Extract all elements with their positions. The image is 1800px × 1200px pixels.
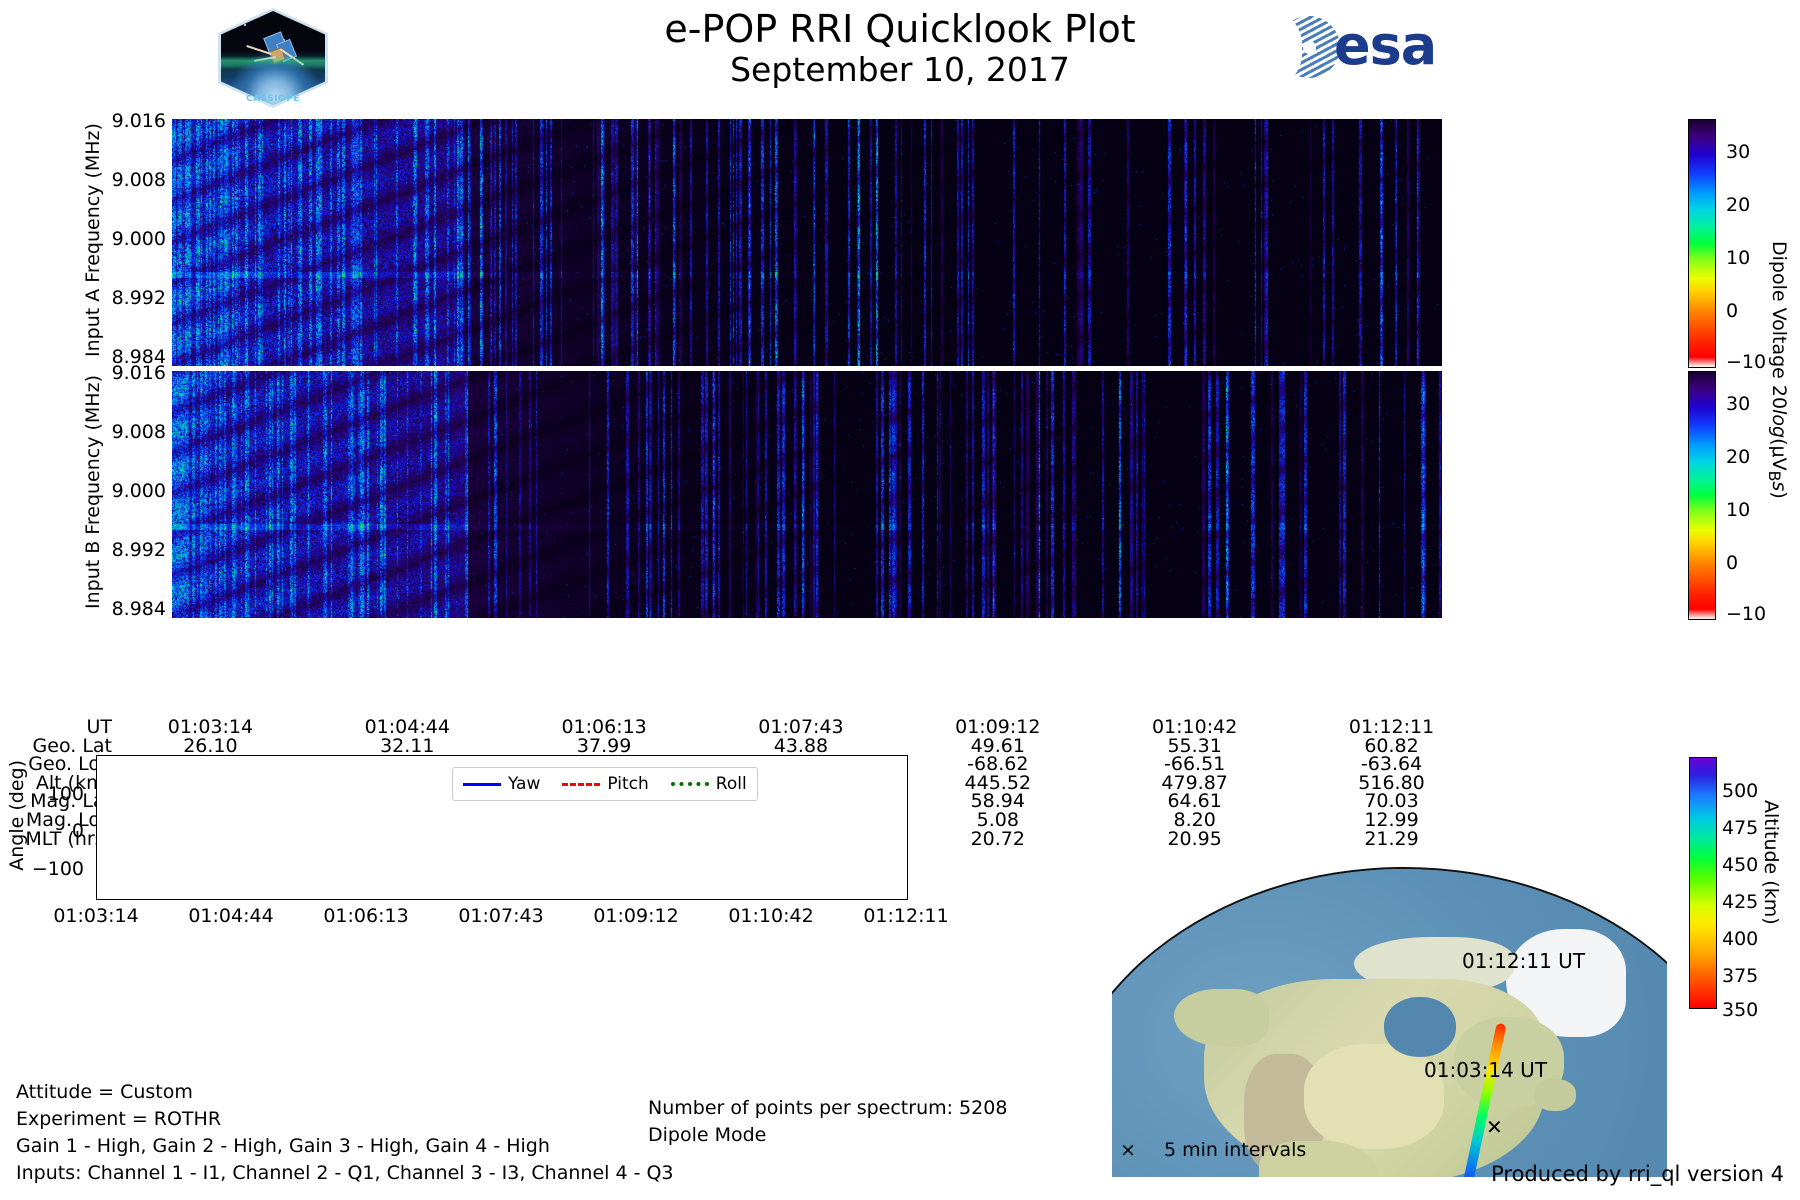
esa-logo: esa (1278, 14, 1488, 80)
angle-plot[interactable]: Yaw Pitch Roll (96, 755, 908, 900)
footer-inputs: Inputs: Channel 1 - I1, Channel 2 - Q1, … (16, 1162, 674, 1184)
input-b-ytick-labels: 9.016 9.008 9.000 8.992 8.984 (100, 362, 166, 622)
angle-plot-xtick-labels: 01:03:14 01:04:44 01:06:13 01:07:43 01:0… (0, 905, 1000, 935)
input-b-spectrogram[interactable] (172, 371, 1442, 618)
pitch-line-icon (562, 783, 600, 786)
colorbar-axis-label: Dipole Voltage 20log(μVBs) (1760, 175, 1790, 565)
esa-logo-text: esa (1334, 16, 1436, 76)
altitude-colorbar (1689, 757, 1717, 1009)
input-a-spectrogram[interactable] (172, 119, 1442, 366)
hudson-bay (1384, 997, 1456, 1057)
footer-points-per-spectrum: Number of points per spectrum: 5208 (648, 1097, 1007, 1119)
great-plains (1304, 1044, 1444, 1149)
orbit-map[interactable]: ✕ ✕ 01:12:11 UT 01:03:14 UT (1112, 867, 1667, 1177)
angle-plot-ytick-labels: 100 0 −100 (14, 755, 92, 900)
cassiope-logo: CASSIOPE (218, 8, 328, 108)
table-row: UT 01:03:14 01:04:44 01:06:13 01:07:43 0… (0, 718, 1490, 737)
footer-attitude: Attitude = Custom (16, 1081, 193, 1103)
input-a-ytick-labels: 9.016 9.008 9.000 8.992 8.984 (100, 110, 166, 370)
angle-plot-legend: Yaw Pitch Roll (452, 767, 758, 801)
map-interval-legend: × 5 min intervals (1120, 1139, 1306, 1161)
interval-marker-mid: ✕ (1486, 1117, 1503, 1137)
footer-produced-by: Produced by rri_ql version 4 (1491, 1162, 1784, 1186)
footer-mode: Dipole Mode (648, 1124, 766, 1146)
legend-item-roll[interactable]: Roll (671, 774, 747, 794)
legend-item-pitch[interactable]: Pitch (562, 774, 648, 794)
newfoundland (1534, 1079, 1576, 1111)
colorbar-input-a (1688, 119, 1716, 368)
map-start-time-label: 01:03:14 UT (1424, 1058, 1547, 1082)
row-label-ut: UT (0, 718, 112, 737)
cassiope-logo-text: CASSIOPE (218, 94, 328, 104)
colorbar-input-b (1688, 371, 1716, 620)
altitude-colorbar-label: Altitude (km) (1760, 800, 1790, 1000)
globe-projection: ✕ ✕ (1112, 867, 1667, 1177)
footer-experiment: Experiment = ROTHR (16, 1108, 221, 1130)
footer-gains: Gain 1 - High, Gain 2 - High, Gain 3 - H… (16, 1135, 550, 1157)
yaw-line-icon (463, 783, 501, 786)
interval-legend-text: 5 min intervals (1164, 1139, 1306, 1161)
map-end-time-label: 01:12:11 UT (1462, 949, 1585, 973)
legend-item-yaw[interactable]: Yaw (463, 774, 540, 794)
interval-marker-icon: × (1120, 1139, 1136, 1161)
roll-line-icon (671, 782, 709, 786)
